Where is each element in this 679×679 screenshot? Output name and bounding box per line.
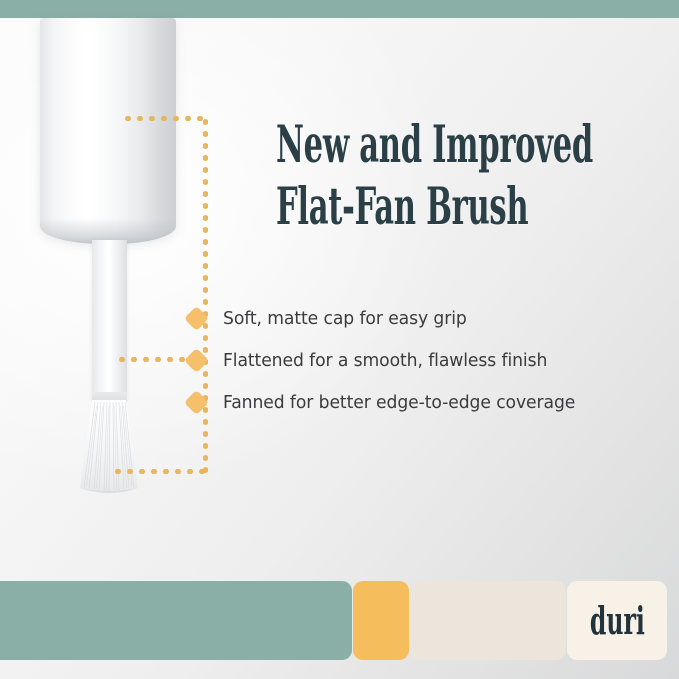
feature-item: Soft, matte cap for easy grip [188, 297, 668, 339]
footer-logo-tile: duri [567, 581, 667, 660]
feature-text: Fanned for better edge-to-edge coverage [223, 392, 575, 413]
cap-highlight [75, 20, 98, 230]
feature-item: Flattened for a smooth, flawless finish [188, 339, 668, 381]
headline-line-1: New and Improved [276, 116, 511, 174]
diamond-bullet-icon [184, 390, 208, 414]
product-infographic: New and Improved Flat-Fan Brush Soft, ma… [0, 0, 679, 679]
diamond-bullet-icon [184, 348, 208, 372]
top-accent-bar [0, 0, 679, 18]
brand-logo: duri [590, 602, 645, 640]
headline-line-2: Flat-Fan Brush [276, 178, 511, 236]
footer-segment-green [0, 581, 352, 660]
footer-segment-gold [353, 581, 409, 660]
headline: New and Improved Flat-Fan Brush [276, 116, 668, 236]
footer-bar: duri [0, 581, 679, 660]
brush-cap [40, 18, 176, 244]
feature-list: Soft, matte cap for easy grip Flattened … [188, 297, 668, 423]
brush-handle [92, 240, 127, 400]
feature-item: Fanned for better edge-to-edge coverage [188, 381, 668, 423]
brush-bristles [64, 400, 154, 498]
bristles-svg [64, 400, 154, 498]
feature-text: Flattened for a smooth, flawless finish [223, 350, 547, 371]
feature-text: Soft, matte cap for easy grip [223, 308, 467, 329]
footer-segment-beige [410, 581, 566, 660]
diamond-bullet-icon [184, 306, 208, 330]
